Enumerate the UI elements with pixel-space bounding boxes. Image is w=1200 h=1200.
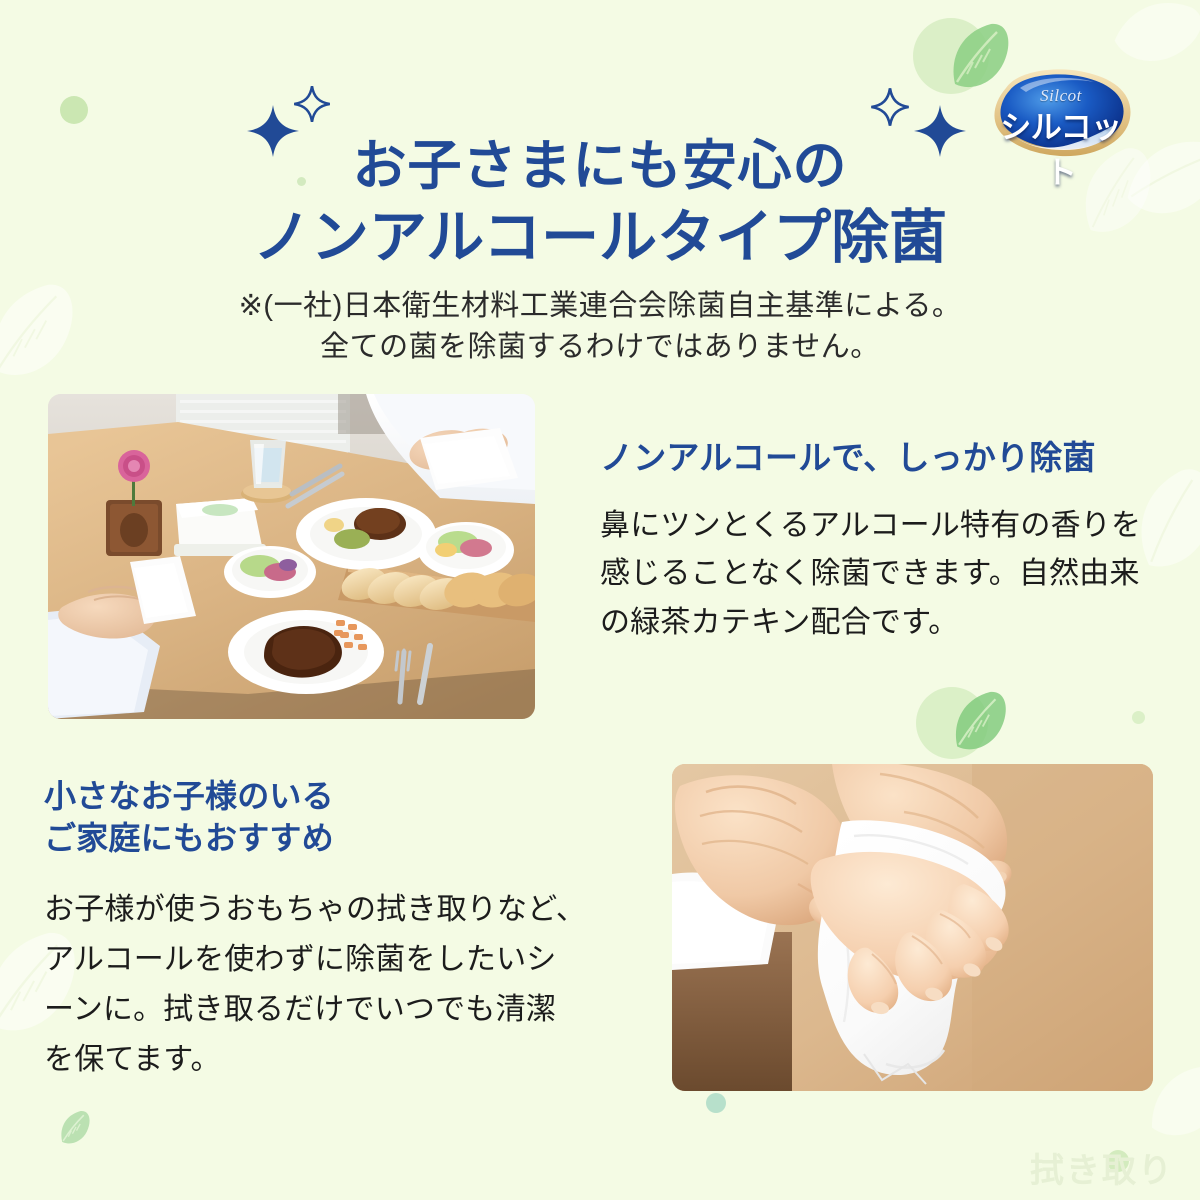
- feature-body-family-line-2: アルコールを使わずに除菌をしたいシ: [44, 935, 624, 985]
- promo-banner: Silcot シルコット お子さまにも安心の ノンアルコールタイプ除菌 ※(一社…: [0, 0, 1200, 1200]
- disclaimer-line-2: 全ての菌を除菌するわけではありません。: [0, 327, 1200, 368]
- decor-leaf-mid-right-icon: [950, 690, 1010, 754]
- feature-heading-family: 小さなお子様のいる ご家庭にもおすすめ: [44, 775, 624, 859]
- page-headline: お子さまにも安心の ノンアルコールタイプ除菌: [0, 132, 1200, 275]
- decor-circle-tiny-right: [1132, 711, 1145, 724]
- feature-body-non-alcohol-line-2: 感じることなく除菌できます。自然由来: [600, 550, 1170, 599]
- feature-body-family-line-1: お子様が使うおもちゃの拭き取りなど、: [44, 885, 624, 935]
- feature-heading-family-line-1: 小さなお子様のいる: [44, 775, 624, 817]
- feature-body-non-alcohol-line-1: 鼻にツンとくるアルコール特有の香りを: [600, 502, 1170, 551]
- decor-circle-mid-right: [916, 687, 988, 759]
- disclaimer-line-1: ※(一社)日本衛生材料工業連合会除菌自主基準による。: [0, 286, 1200, 327]
- decor-circle-top-right: [913, 18, 989, 94]
- feature-body-family-line-3: ーンに。拭き取るだけでいつでも清潔: [44, 985, 624, 1035]
- feature-block-family: 小さなお子様のいる ご家庭にもおすすめ お子様が使うおもちゃの拭き取りなど、 ア…: [44, 775, 624, 1085]
- feature-body-non-alcohol: 鼻にツンとくるアルコール特有の香りを 感じることなく除菌できます。自然由来 の緑…: [600, 502, 1170, 648]
- child-hand-wiping-photo: [672, 764, 1153, 1091]
- feature-heading-non-alcohol: ノンアルコールで、しっかり除菌: [600, 436, 1170, 480]
- feature-heading-family-line-2: ご家庭にもおすすめ: [44, 817, 624, 859]
- sparkle-star-outline-left-icon: [292, 84, 332, 124]
- headline-line-2: ノンアルコールタイプ除菌: [0, 201, 1200, 275]
- decor-leaf-bottom-left-icon: [58, 1110, 92, 1146]
- feature-heading-non-alcohol-line-1: ノンアルコールで、しっかり除菌: [600, 436, 1170, 480]
- disclaimer-note: ※(一社)日本衛生材料工業連合会除菌自主基準による。 全ての菌を除菌するわけでは…: [0, 286, 1200, 368]
- feature-body-family: お子様が使うおもちゃの拭き取りなど、 アルコールを使わずに除菌をしたいシ ーンに…: [44, 885, 624, 1084]
- decor-circle-teal-bottom: [706, 1093, 726, 1113]
- feature-block-non-alcohol: ノンアルコールで、しっかり除菌 鼻にツンとくるアルコール特有の香りを 感じること…: [600, 436, 1170, 647]
- feature-body-family-line-4: を保てます。: [44, 1035, 624, 1085]
- dining-table-wiping-photo: [48, 394, 535, 719]
- headline-line-1: お子さまにも安心の: [0, 132, 1200, 201]
- background-watermark-text: 拭き取り: [1030, 1143, 1174, 1192]
- decor-circle-top-left: [60, 96, 88, 124]
- feature-body-non-alcohol-line-3: の緑茶カテキン配合です。: [600, 599, 1170, 648]
- sparkle-star-outline-right-icon: [869, 86, 911, 128]
